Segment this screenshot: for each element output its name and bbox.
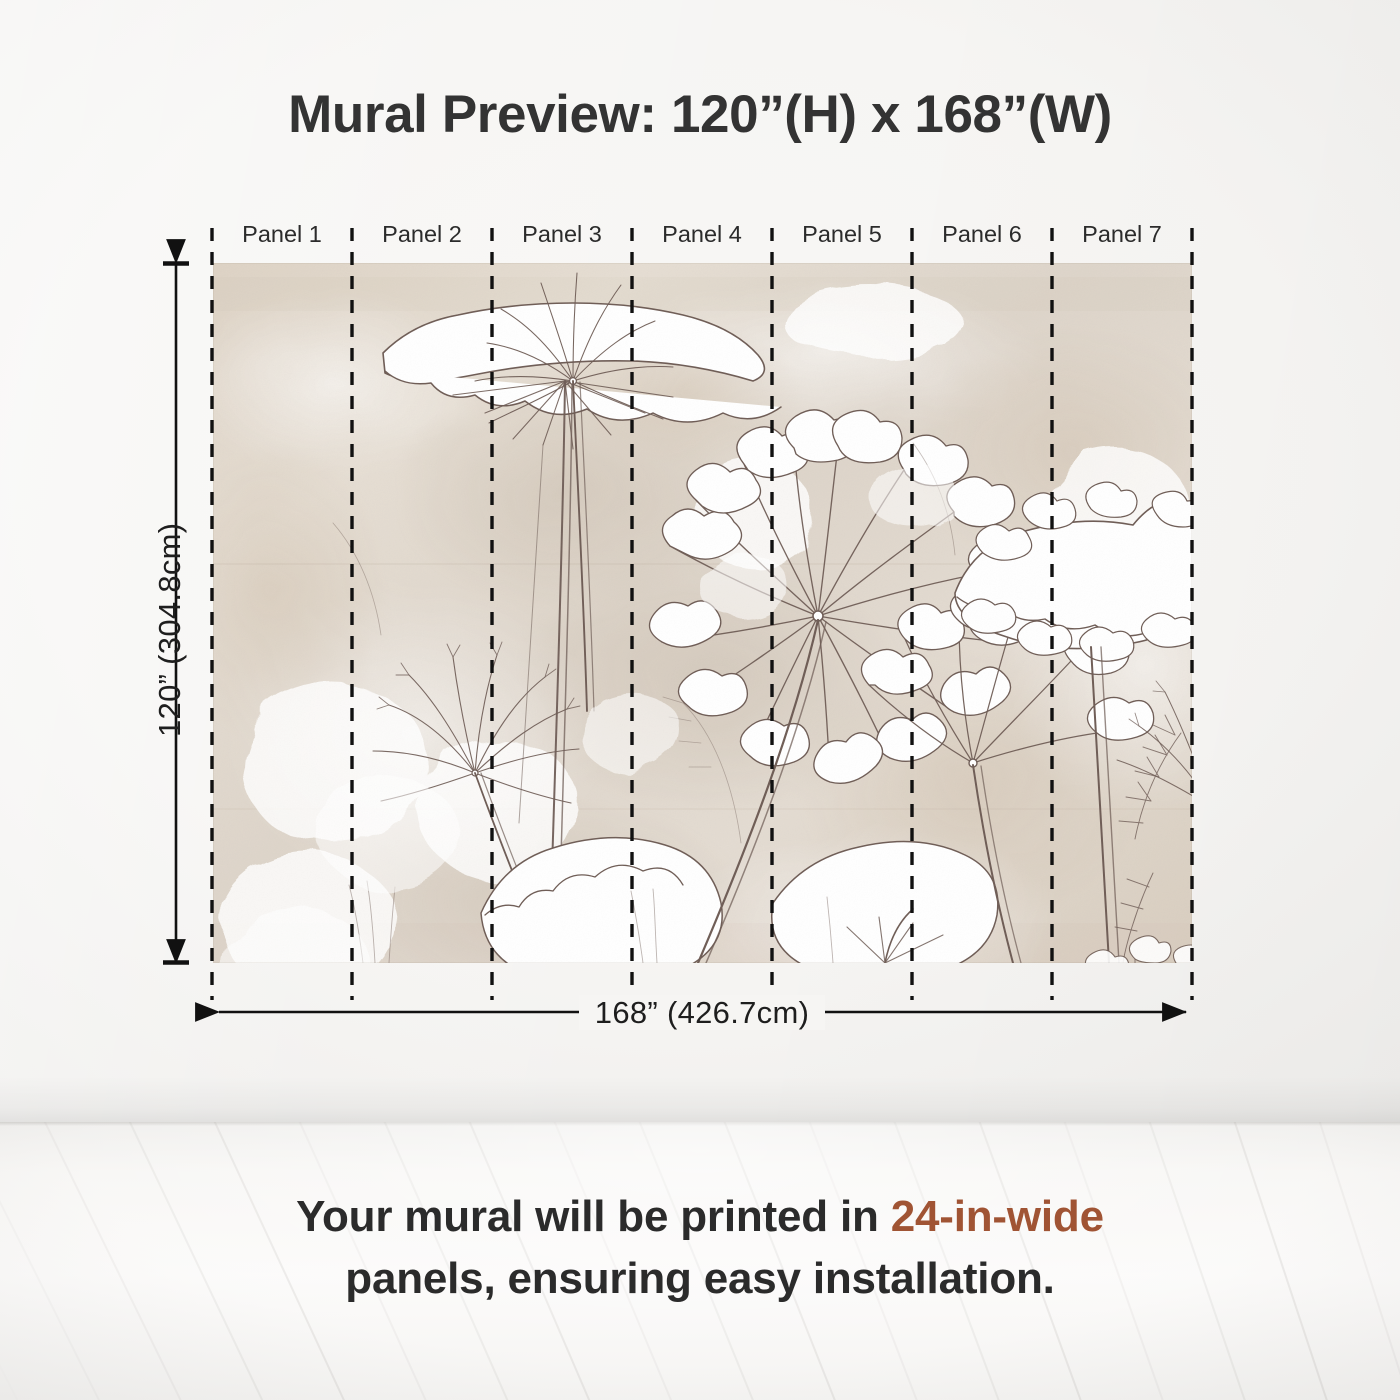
height-dimension-label: 120” (304.8cm) — [152, 523, 188, 737]
panel-label-1: Panel 1 — [212, 218, 352, 250]
page-title: Mural Preview: 120”(H) x 168”(W) — [0, 84, 1400, 145]
panel-label-6: Panel 6 — [912, 218, 1052, 250]
width-dimension-label: 168” (426.7cm) — [212, 995, 1192, 1031]
panel-label-2: Panel 2 — [352, 218, 492, 250]
mural-artwork — [213, 263, 1192, 963]
panel-label-3: Panel 3 — [492, 218, 632, 250]
panel-label-row: Panel 1Panel 2Panel 3Panel 4Panel 5Panel… — [212, 218, 1192, 250]
mural-preview-scene: Mural Preview: 120”(H) x 168”(W) Panel 1… — [0, 0, 1400, 1400]
footer-caption: Your mural will be printed in 24-in-wide… — [0, 1186, 1400, 1310]
caption-line-1-prefix: Your mural will be printed in — [296, 1192, 891, 1241]
caption-line-2: panels, ensuring easy installation. — [0, 1248, 1400, 1310]
panel-label-5: Panel 5 — [772, 218, 912, 250]
caption-highlight: 24-in-wide — [891, 1192, 1104, 1241]
width-dimension-text: 168” (426.7cm) — [579, 995, 825, 1030]
wall-base-shadow — [0, 1076, 1400, 1122]
mural-illustration — [213, 263, 1192, 963]
panel-label-7: Panel 7 — [1052, 218, 1192, 250]
panel-label-4: Panel 4 — [632, 218, 772, 250]
caption-line-1: Your mural will be printed in 24-in-wide — [0, 1186, 1400, 1248]
